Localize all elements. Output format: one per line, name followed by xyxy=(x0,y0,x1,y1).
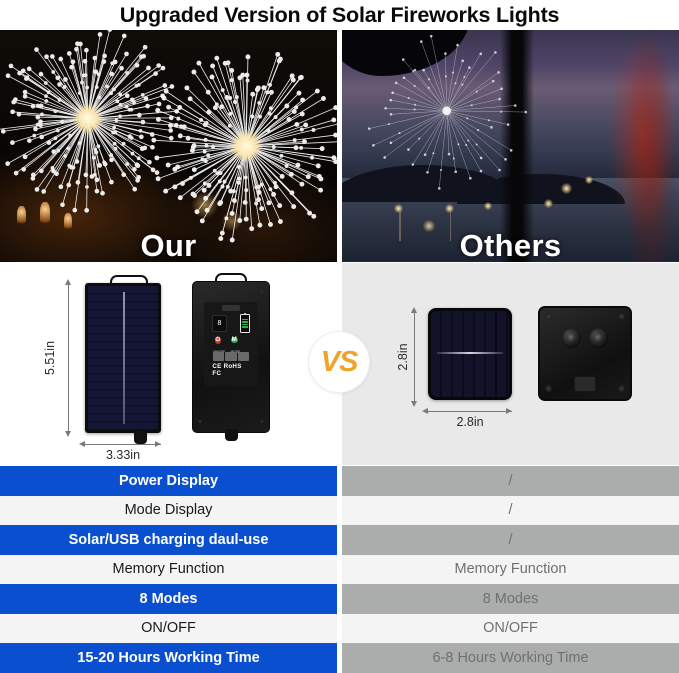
certification-icons xyxy=(213,352,249,361)
dimension-arrow xyxy=(411,307,417,313)
table-row-others: / xyxy=(342,466,679,496)
lamp-light xyxy=(445,204,454,213)
switch-knob[interactable] xyxy=(562,328,582,348)
table-row-others: / xyxy=(342,525,679,555)
hero-label-our: Our xyxy=(0,230,337,261)
vs-badge: VS xyxy=(309,332,369,392)
red-light-glow xyxy=(598,30,679,262)
dimension-line-width xyxy=(428,411,512,412)
table-row-others: / xyxy=(342,496,679,526)
firework-burst-dim xyxy=(349,30,544,197)
firework-burst-bright xyxy=(135,44,337,248)
page-title: Upgraded Version of Solar Fireworks Ligh… xyxy=(0,0,679,30)
lamp-light xyxy=(484,202,492,210)
panel-seam xyxy=(123,292,125,425)
table-row-others: ON/OFF xyxy=(342,614,679,644)
lamp-light xyxy=(585,176,593,184)
dimension-label-width-our: 3.33in xyxy=(85,448,161,462)
night-scene-our: {} Our xyxy=(0,30,337,262)
night-scene-others: Others xyxy=(342,30,679,262)
switch-knob[interactable] xyxy=(589,328,609,348)
product-photo-our: 5.51in 8 ⏻ ON/OFF M MODE xyxy=(0,263,337,465)
dimension-line-width xyxy=(85,444,161,445)
battery-level-icon xyxy=(240,314,249,332)
product-photo-others: 2.8in 2.8in xyxy=(342,263,679,465)
dimension-label-width-others: 2.8in xyxy=(428,415,512,429)
power-button[interactable]: ⏻ xyxy=(215,337,222,344)
digital-display: 8 xyxy=(212,315,226,332)
dimension-line-height xyxy=(68,285,69,431)
control-box-our: 8 ⏻ ON/OFF M MODE CE RoHS FC xyxy=(192,281,270,433)
dimension-arrow xyxy=(65,279,71,285)
dimension-arrow xyxy=(155,441,161,447)
feature-table-others: ///Memory Function8 ModesON/OFF6-8 Hours… xyxy=(342,466,679,673)
dimension-line-height xyxy=(414,313,415,401)
timer-icon xyxy=(225,352,236,361)
hero-label-others: Others xyxy=(342,230,679,261)
control-cable-plug xyxy=(225,429,238,441)
dimension-arrow xyxy=(411,401,417,407)
dimension-arrow xyxy=(79,441,85,447)
table-row-our: 15-20 Hours Working Time xyxy=(0,643,337,673)
cable-slot xyxy=(574,376,596,391)
control-face-plate: 8 ⏻ ON/OFF M MODE CE RoHS FC xyxy=(204,302,259,386)
certification-text: CE RoHS FC xyxy=(212,363,250,377)
candle-light xyxy=(64,213,72,231)
screw xyxy=(618,313,625,320)
solar-panel-others xyxy=(428,308,512,400)
screw xyxy=(545,385,552,392)
mode-button[interactable]: M xyxy=(231,337,238,344)
table-row-our: ON/OFF xyxy=(0,614,337,644)
dimension-label-height-our: 5.51in xyxy=(43,330,57,386)
usb-port-slot xyxy=(222,305,240,311)
hero-image-others: Others xyxy=(342,30,679,262)
dimension-label-height-others: 2.8in xyxy=(396,334,410,380)
sun-icon xyxy=(213,352,224,361)
solar-panel-our xyxy=(85,283,161,433)
feature-table-our: Power DisplayMode DisplaySolar/USB charg… xyxy=(0,466,337,673)
table-row-others: 6-8 Hours Working Time xyxy=(342,643,679,673)
screw xyxy=(198,420,202,424)
touch-icon xyxy=(238,352,249,361)
screw xyxy=(260,290,264,294)
screw xyxy=(198,290,202,294)
panel-cable-plug xyxy=(134,431,147,444)
control-back-others xyxy=(538,306,632,401)
product-comparison-page: Upgraded Version of Solar Fireworks Ligh… xyxy=(0,0,679,673)
table-row-our: Power Display xyxy=(0,466,337,496)
dimension-arrow xyxy=(65,431,71,437)
table-row-our: Mode Display xyxy=(0,496,337,526)
table-row-others: Memory Function xyxy=(342,555,679,585)
table-row-our: Memory Function xyxy=(0,555,337,585)
dimension-arrow xyxy=(506,408,512,414)
hero-image-our: {} Our xyxy=(0,30,337,262)
screw xyxy=(545,313,552,320)
table-row-our: 8 Modes xyxy=(0,584,337,614)
table-row-others: 8 Modes xyxy=(342,584,679,614)
screw xyxy=(618,385,625,392)
screw xyxy=(260,420,264,424)
table-row-our: Solar/USB charging daul-use xyxy=(0,525,337,555)
dimension-arrow xyxy=(422,408,428,414)
